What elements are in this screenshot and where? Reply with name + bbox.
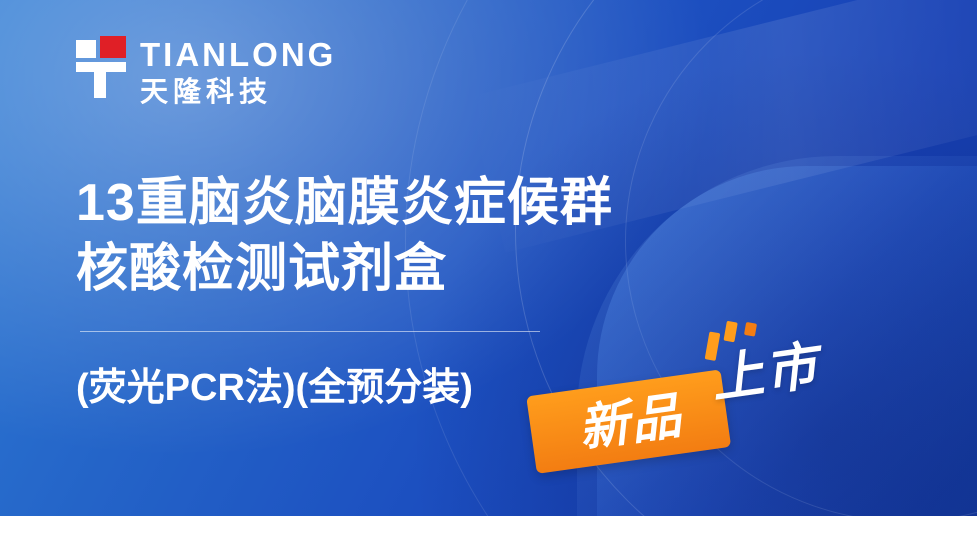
brand-logo: TIANLONG 天隆科技 (76, 36, 336, 108)
new-product-badge: 新品 上市 (510, 307, 870, 516)
poster-canvas: TIANLONG 天隆科技 13重脑炎脑膜炎症候群 核酸检测试剂盒 (荧光PCR… (0, 0, 977, 551)
brand-logo-text: TIANLONG 天隆科技 (140, 36, 336, 108)
headline-line-1: 13重脑炎脑膜炎症候群 (76, 170, 776, 236)
brand-name-en: TIANLONG (140, 38, 336, 72)
bottom-white-strip (0, 516, 977, 551)
subtitle-text: (荧光PCR法)(全预分装) (76, 356, 473, 411)
logo-square-red (100, 36, 126, 58)
badge-tick-3-icon (744, 322, 757, 337)
tianlong-logo-icon (76, 36, 128, 98)
brand-name-cn: 天隆科技 (140, 76, 336, 108)
headline-divider (80, 331, 540, 332)
banner-background: TIANLONG 天隆科技 13重脑炎脑膜炎症候群 核酸检测试剂盒 (荧光PCR… (0, 0, 977, 516)
headline-line-2: 核酸检测试剂盒 (76, 236, 776, 302)
headline-block: 13重脑炎脑膜炎症候群 核酸检测试剂盒 (76, 170, 776, 302)
badge-side-text: 上市 (707, 334, 823, 412)
logo-bar-vertical (94, 62, 106, 98)
badge-tick-2-icon (723, 321, 737, 343)
logo-square-white (76, 40, 96, 58)
